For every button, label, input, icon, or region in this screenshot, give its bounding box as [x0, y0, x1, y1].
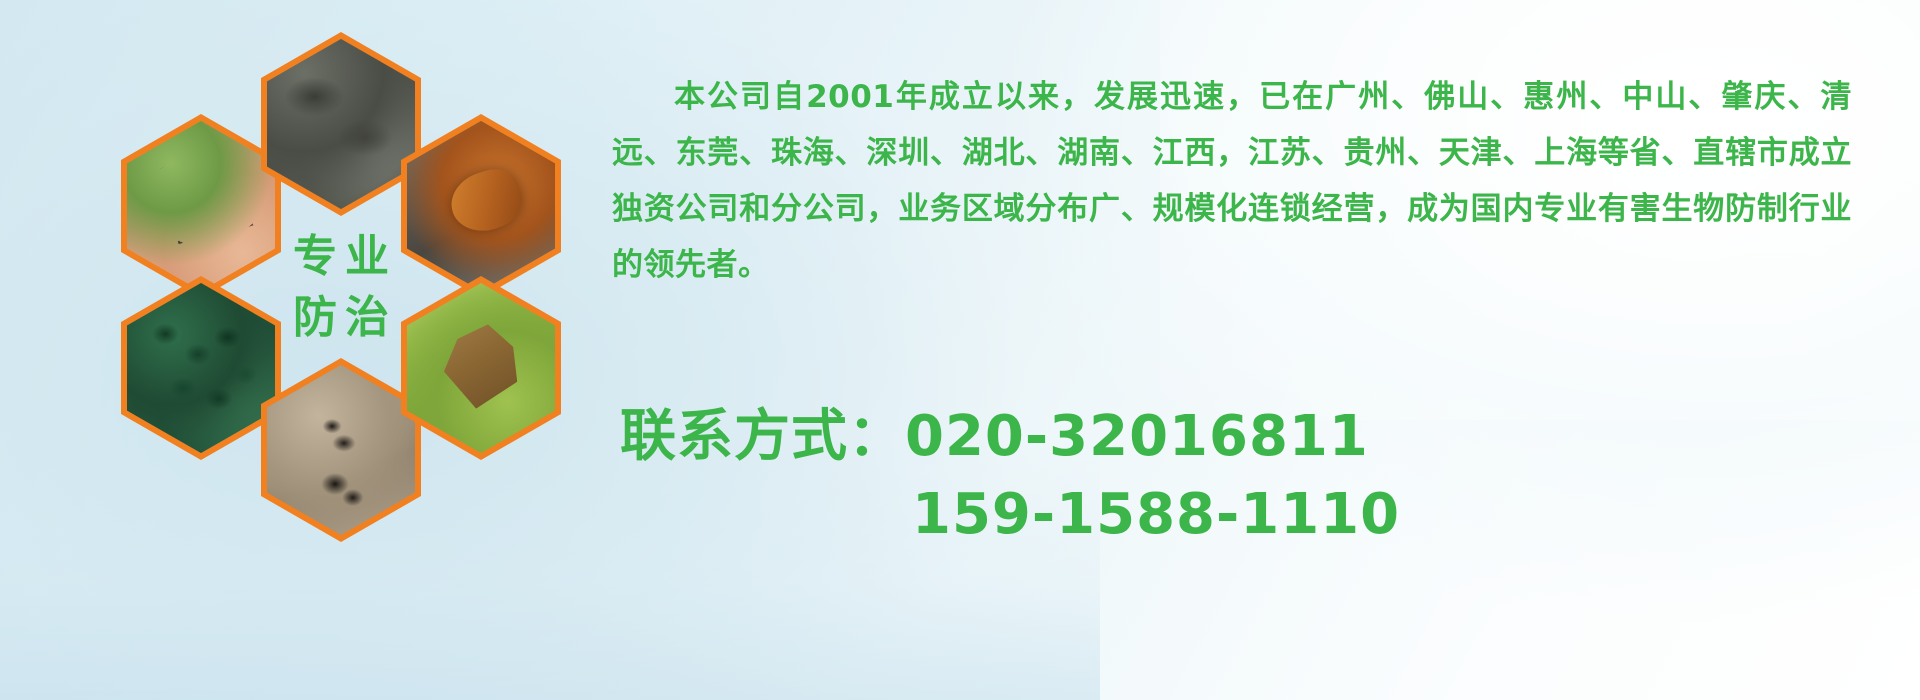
center-label-line-1: 专业 [285, 229, 397, 284]
contact-block: 联系方式：020-32016811 159-1588-1110 [620, 398, 1740, 554]
hex-cell-cockroach-frame [407, 121, 555, 291]
cockroach-photo [407, 121, 555, 291]
intro-copy-block: 本公司自2001年成立以来，发展迅速，已在广州、佛山、惠州、中山、肇庆、清远、东… [612, 38, 1852, 324]
honeycomb-image-cluster: 专业 防治 [85, 10, 605, 570]
hex-cell-ants[interactable] [261, 358, 421, 542]
hex-cell-rats-frame [267, 39, 415, 209]
hex-cell-rats[interactable] [261, 32, 421, 216]
promo-banner: 专业 防治 本公司自2001年成立以来，发展迅速，已在广州、佛山、惠州、中山、肇… [0, 0, 1920, 700]
rats-photo [267, 39, 415, 209]
ants-photo [267, 365, 415, 535]
intro-paragraph: 本公司自2001年成立以来，发展迅速，已在广州、佛山、惠州、中山、肇庆、清远、东… [612, 69, 1852, 293]
center-label-line-2: 防治 [285, 290, 397, 345]
hex-cell-stinkbug[interactable] [401, 276, 561, 460]
contact-phone-primary-line[interactable]: 联系方式：020-32016811 [620, 398, 1740, 476]
hex-cell-mosquito-frame [127, 121, 275, 291]
honeycomb-center-label: 专业 防治 [261, 195, 421, 379]
stinkbug-photo [407, 283, 555, 453]
hex-cell-flies-frame [127, 283, 275, 453]
hex-cell-flies[interactable] [121, 276, 281, 460]
flies-photo [127, 283, 275, 453]
hex-cell-stinkbug-frame [407, 283, 555, 453]
hex-cell-mosquito[interactable] [121, 114, 281, 298]
mosquito-photo [127, 121, 275, 291]
hex-cell-cockroach[interactable] [401, 114, 561, 298]
hex-cell-ants-frame [267, 365, 415, 535]
contact-phone-secondary-line[interactable]: 159-1588-1110 [620, 476, 1740, 554]
